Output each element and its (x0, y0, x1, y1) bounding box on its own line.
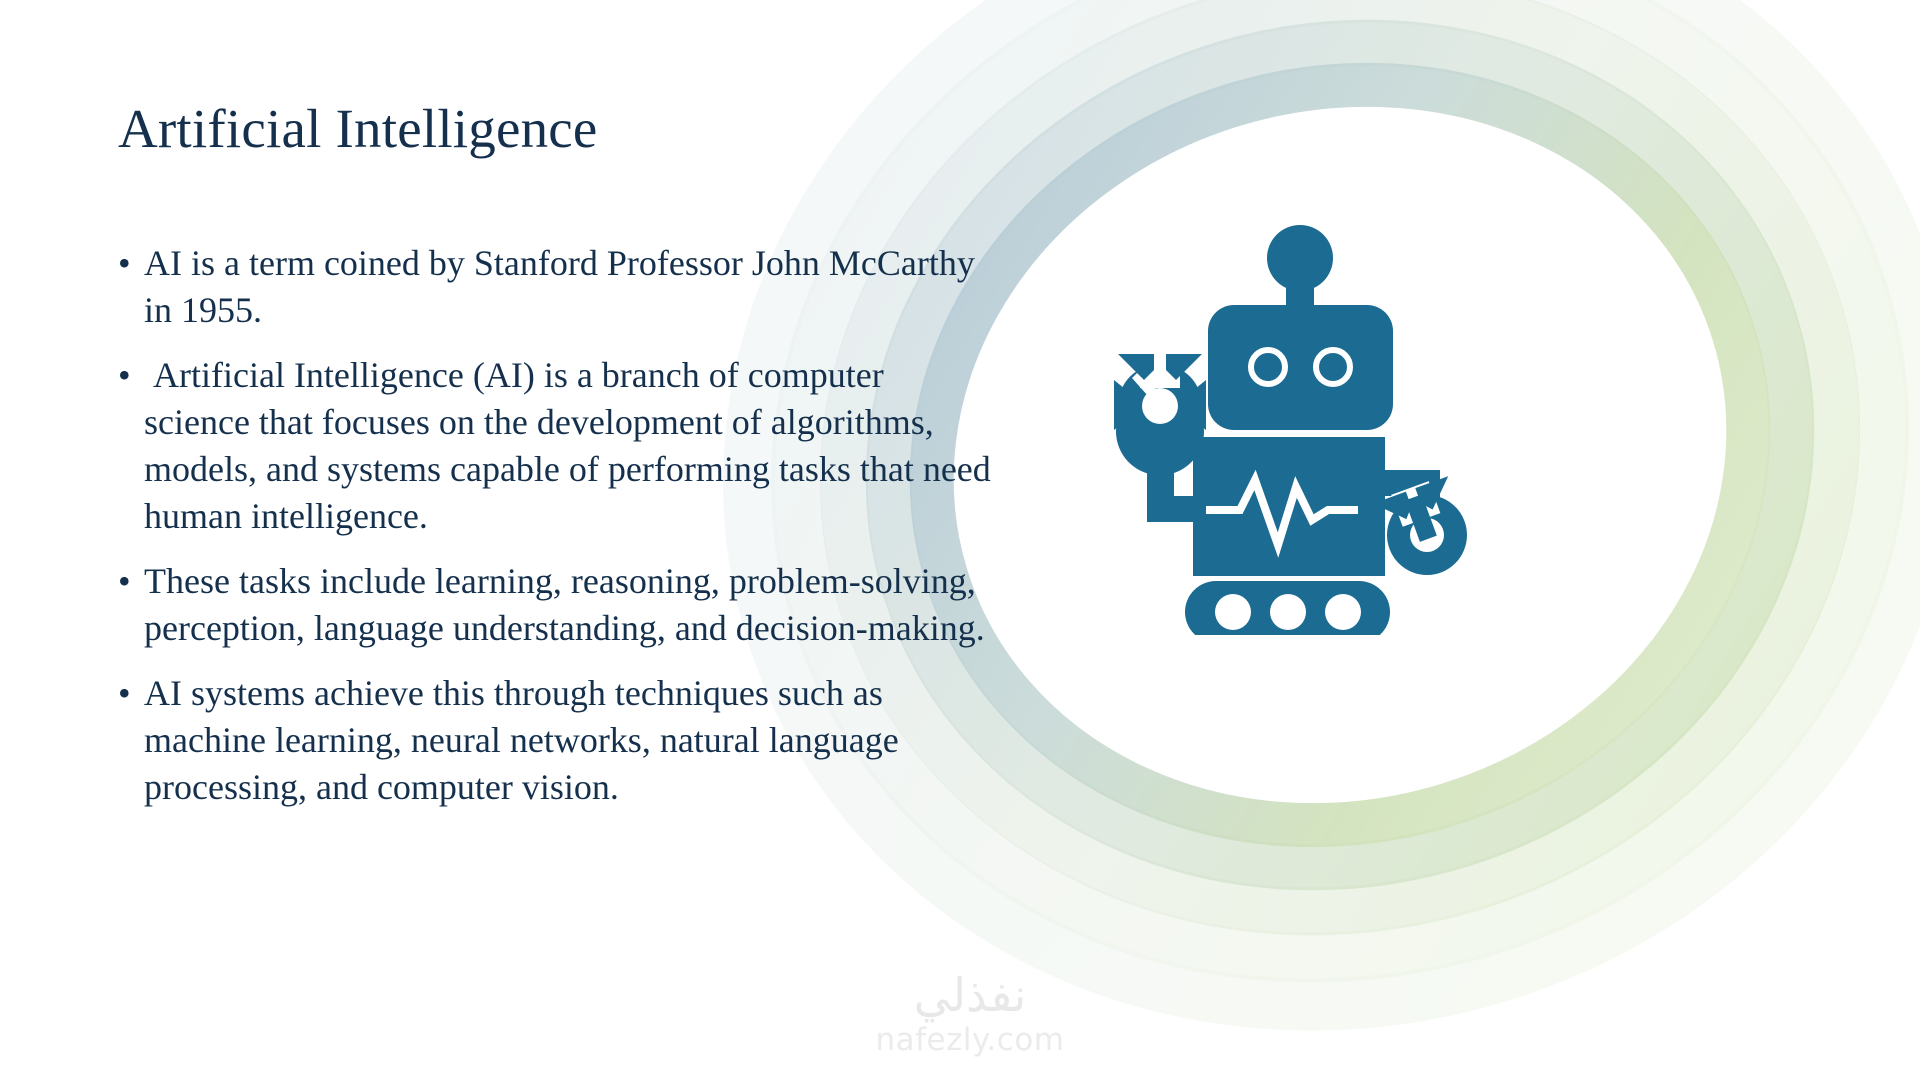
robot-head-icon (1208, 305, 1393, 430)
list-item: • Artificial Intelligence (AI) is a bran… (112, 352, 992, 540)
robot-wheel-center-icon (1270, 594, 1306, 630)
list-item: • These tasks include learning, reasonin… (112, 558, 992, 652)
robot-eye-right-icon (1316, 350, 1350, 384)
bullet-marker-icon: • (112, 558, 144, 605)
bullet-marker-icon: • (112, 240, 144, 287)
list-item-text: Artificial Intelligence (AI) is a branch… (144, 352, 992, 540)
bullet-marker-icon: • (112, 670, 144, 717)
list-item-text: AI systems achieve this through techniqu… (144, 670, 992, 811)
robot-icon (1110, 215, 1490, 635)
watermark: نفذلي nafezly.com (820, 968, 1120, 1078)
robot-wheel-right-icon (1325, 594, 1361, 630)
list-item: • AI systems achieve this through techni… (112, 670, 992, 811)
robot-eye-left-icon (1251, 350, 1285, 384)
robot-wheel-left-icon (1215, 594, 1251, 630)
list-item-text: These tasks include learning, reasoning,… (144, 558, 992, 652)
robot-claw-left-icon (1114, 354, 1206, 475)
watermark-latin-text: nafezly.com (820, 1022, 1120, 1058)
robot-forearm-left-icon (1147, 496, 1207, 522)
bullet-list: • AI is a term coined by Stanford Profes… (112, 240, 992, 829)
bullet-marker-icon: • (112, 352, 144, 399)
list-item: • AI is a term coined by Stanford Profes… (112, 240, 992, 334)
list-item-text: AI is a term coined by Stanford Professo… (144, 240, 992, 334)
slide-canvas: Artificial Intelligence • AI is a term c… (0, 0, 1920, 1080)
watermark-arabic-text: نفذلي (820, 968, 1120, 1022)
page-title: Artificial Intelligence (118, 100, 598, 158)
